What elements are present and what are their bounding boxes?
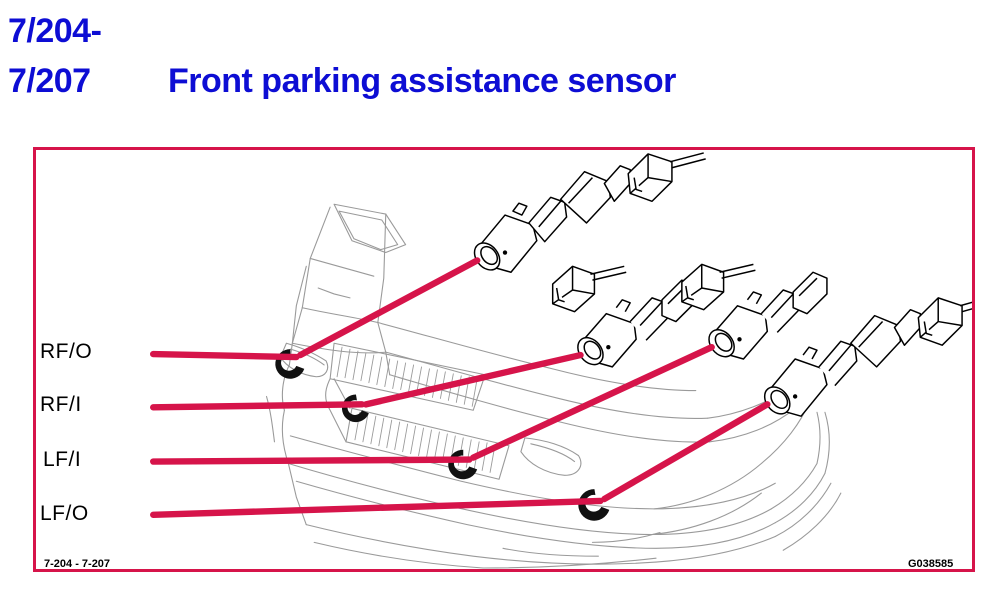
callout-label-lf-i: LF/I bbox=[43, 448, 81, 472]
title-line-1: 7/204- bbox=[8, 6, 988, 56]
callout-label-lf-o: LF/O bbox=[40, 502, 89, 526]
leader-rf-o bbox=[153, 354, 296, 357]
exploded-view-diagram bbox=[36, 150, 972, 569]
footer-page-range: 7-204 - 7-207 bbox=[44, 558, 110, 570]
title-heading: Front parking assistance sensor bbox=[168, 56, 676, 106]
page-title: 7/204- 7/207Front parking assistance sen… bbox=[8, 6, 988, 126]
sensor-connector-plug-2 bbox=[553, 266, 627, 311]
callout-label-rf-i: RF/I bbox=[40, 393, 82, 417]
leader-rf-i bbox=[153, 404, 362, 407]
leader-rf-i-sensor bbox=[366, 355, 581, 404]
footer-figure-code: G038585 bbox=[908, 558, 953, 570]
sensor-connector-plug-3 bbox=[682, 264, 756, 309]
callout-label-rf-o: RF/O bbox=[40, 340, 92, 364]
title-ref-line1: 7/204- bbox=[8, 12, 101, 50]
title-ref-line2: 7/207 bbox=[8, 56, 168, 106]
leader-rf-o-sensor bbox=[300, 260, 477, 355]
leader-lf-i bbox=[153, 460, 469, 462]
sensor-marker-rf-i bbox=[342, 394, 369, 422]
vehicle-front-outline bbox=[267, 204, 841, 568]
figure-frame bbox=[33, 147, 975, 572]
title-line-2: 7/207Front parking assistance sensor bbox=[8, 56, 988, 106]
parking-sensor-assembly-1 bbox=[469, 153, 705, 275]
sensor-marker-lf-i bbox=[448, 450, 477, 480]
sensor-mount-markers bbox=[275, 349, 609, 521]
